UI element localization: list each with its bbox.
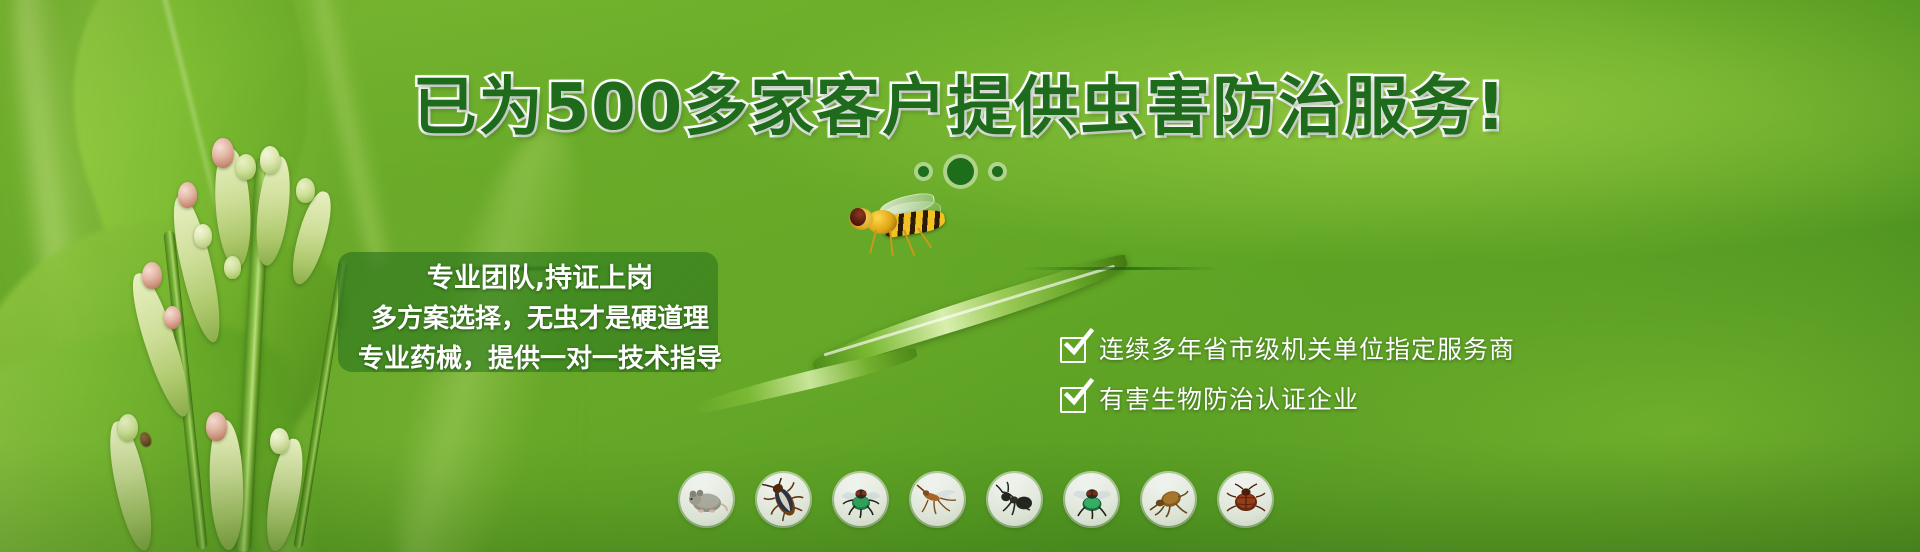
checkbox-checked-icon xyxy=(1060,337,1086,363)
decorative-dots xyxy=(0,158,1920,185)
checkbox-checked-icon xyxy=(1060,387,1086,413)
list-item: 连续多年省市级机关单位指定服务商 xyxy=(1060,336,1515,364)
promo-line-1: 专业团队,持证上岗 xyxy=(427,262,653,296)
feature-bullet-list: 连续多年省市级机关单位指定服务商 有害生物防治认证企业 xyxy=(1060,336,1515,414)
bottom-shading xyxy=(0,442,1920,552)
banner-headline: 已为500多家客户提供虫害防治服务! xyxy=(0,76,1920,140)
bullet-label: 连续多年省市级机关单位指定服务商 xyxy=(1099,336,1515,364)
divider-line-right xyxy=(1020,267,1220,270)
bullet-label: 有害生物防治认证企业 xyxy=(1099,386,1359,414)
promo-line-3: 专业药械，提供一对一技术指导 xyxy=(358,342,722,376)
promo-text-group: 专业团队,持证上岗 多方案选择，无虫才是硬道理 专业药械，提供一对一技术指导 xyxy=(330,252,750,376)
pest-control-banner: 已为500多家客户提供虫害防治服务! 专业团队,持证上岗 多方案选择，无虫才是硬… xyxy=(0,0,1920,552)
promo-line-2: 多方案选择，无虫才是硬道理 xyxy=(371,302,709,336)
dot-small-left-icon xyxy=(918,166,929,177)
dot-small-right-icon xyxy=(992,166,1003,177)
dot-large-center-icon xyxy=(947,158,974,185)
list-item: 有害生物防治认证企业 xyxy=(1060,386,1515,414)
